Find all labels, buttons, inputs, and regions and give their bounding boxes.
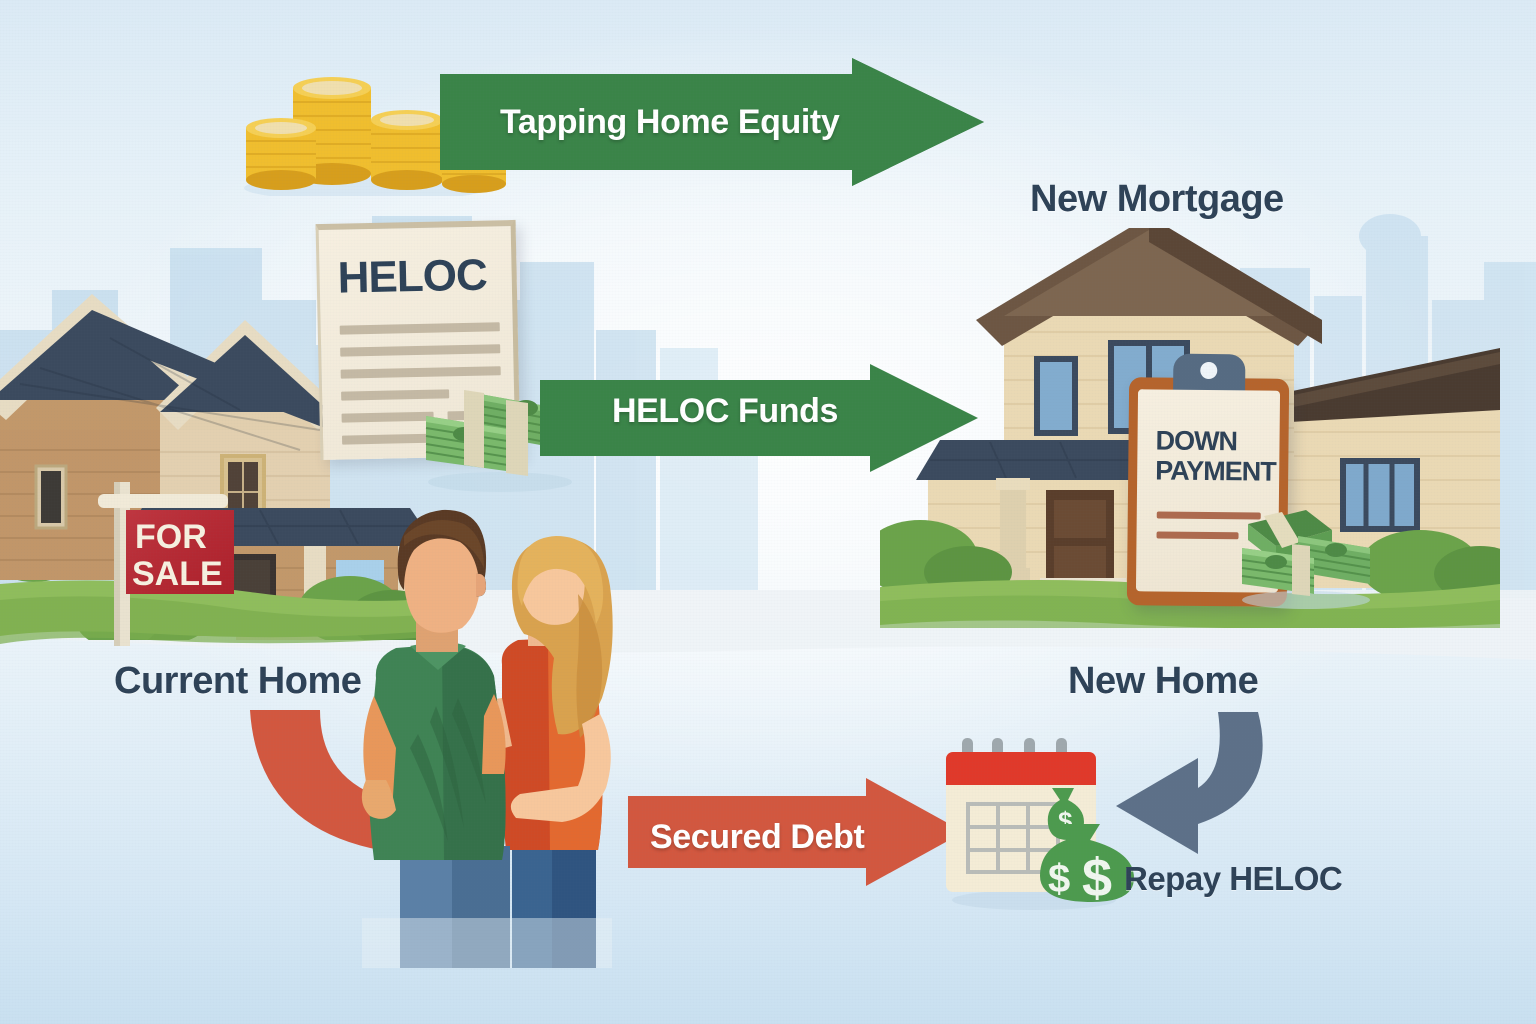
arrow-label-tapping-home-equity: Tapping Home Equity <box>500 103 839 142</box>
for-sale-line-2: SALE <box>132 555 223 593</box>
cash-bundle-down-payment <box>1236 500 1376 610</box>
couple <box>352 498 688 968</box>
heloc-document-title: HELOC <box>337 251 487 304</box>
for-sale-sign: FOR SALE <box>92 468 262 648</box>
label-repay-heloc: Repay HELOC <box>1124 860 1342 898</box>
infographic-canvas: FOR SALE <box>0 0 1536 1024</box>
coin-stack-left <box>246 118 316 190</box>
clipboard-title-line-2: PAYMENT <box>1155 457 1285 485</box>
label-new-mortgage: New Mortgage <box>1030 178 1284 221</box>
for-sale-line-1: FOR <box>135 518 207 556</box>
person-man <box>362 510 510 968</box>
label-current-home: Current Home <box>114 660 361 703</box>
clipboard-title-line-1: DOWN <box>1155 427 1285 455</box>
arrow-label-heloc-funds: HELOC Funds <box>612 392 838 431</box>
svg-text:$: $ <box>1048 857 1070 901</box>
arrow-label-secured-debt: Secured Debt <box>650 818 864 857</box>
label-new-home: New Home <box>1068 660 1258 703</box>
